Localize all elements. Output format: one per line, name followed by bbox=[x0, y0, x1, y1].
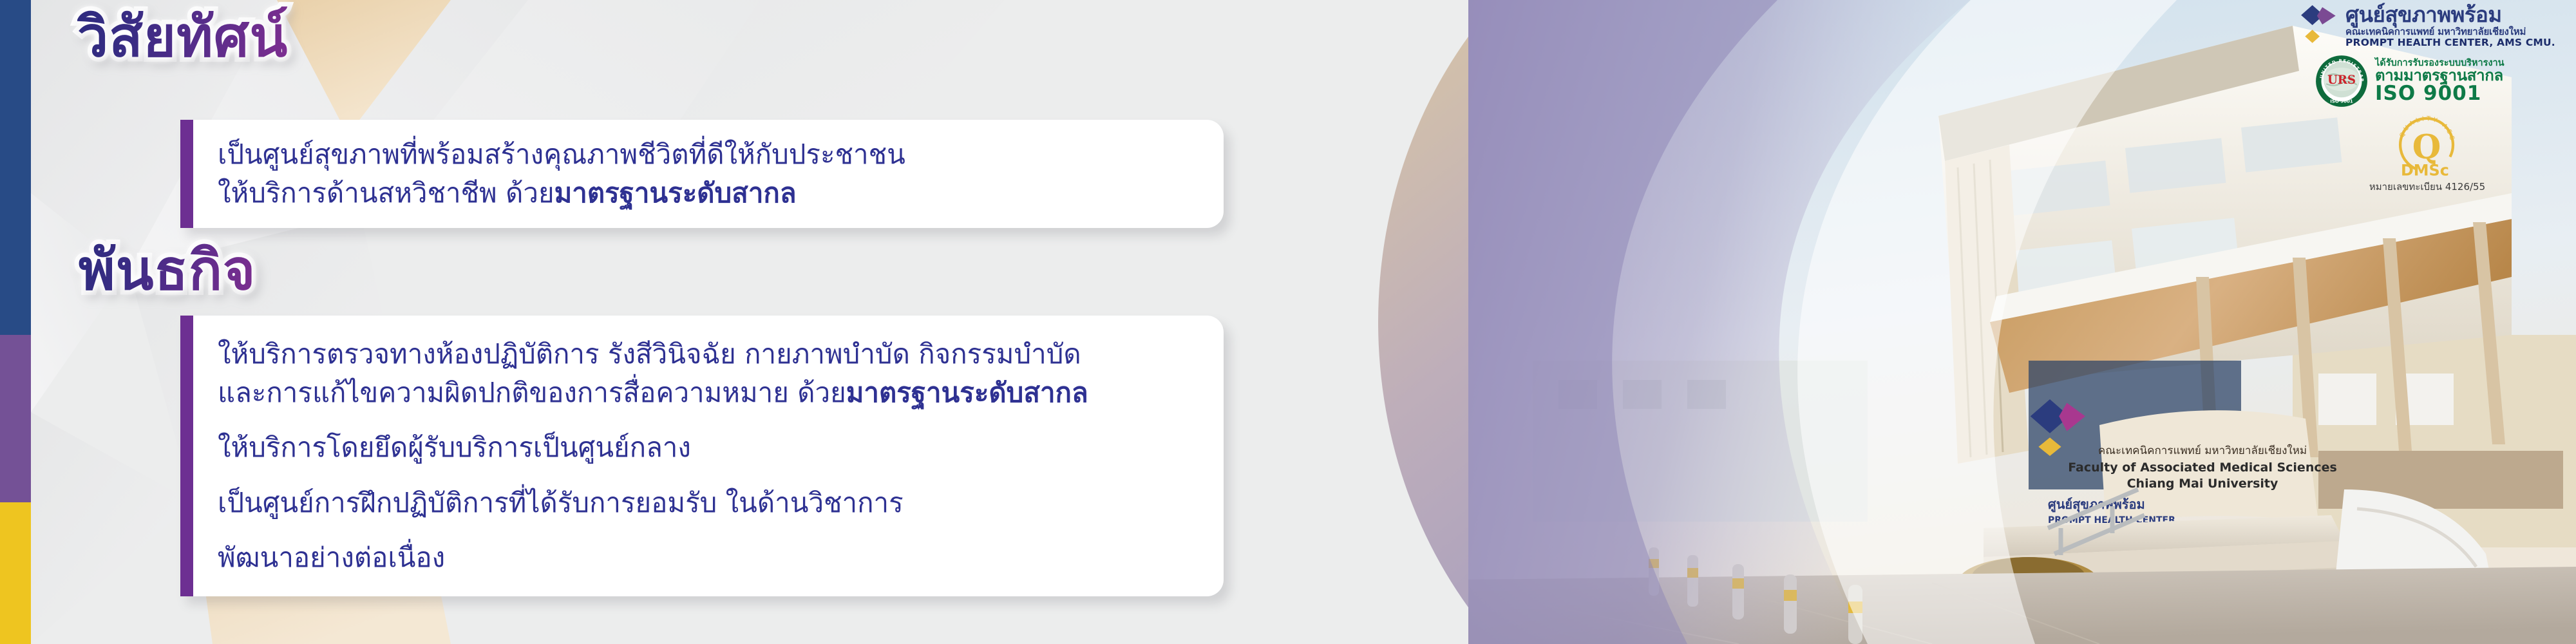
mission-card: ให้บริการตรวจทางห้องปฏิบัติการ รังสีวินิ… bbox=[180, 316, 1224, 596]
mission-item: พัฒนาอย่างต่อเนื่อง bbox=[218, 522, 1198, 577]
vision-line: ให้บริการด้านสหวิชาชีพ ด้วยมาตรฐานระดับส… bbox=[218, 174, 1198, 213]
mission-card-accent-bar bbox=[180, 316, 193, 596]
brand-logo: ศูนย์สุขภาพพร้อม คณะเทคนิคการแพทย์ มหาวิ… bbox=[2300, 4, 2571, 48]
diamond-logo-icon bbox=[2300, 4, 2340, 48]
iso-text-block: ได้รับการรับรองระบบบริหารงาน ตามมาตรฐานส… bbox=[2375, 59, 2505, 104]
mission-item: ให้บริการตรวจทางห้องปฏิบัติการ รังสีวินิ… bbox=[218, 335, 1198, 412]
mission-heading: พันธกิจ bbox=[79, 238, 256, 303]
brand-subtitle-en: PROMPT HEALTH CENTER, AMS CMU. bbox=[2345, 37, 2555, 48]
mission-line-text: ให้บริการโดยยึดผู้รับบริการเป็นศูนย์กลาง bbox=[218, 431, 691, 463]
mission-line: พัฒนาอย่างต่อเนื่อง bbox=[218, 538, 1198, 577]
mission-line: ให้บริการตรวจทางห้องปฏิบัติการ รังสีวินิ… bbox=[218, 335, 1198, 374]
stripe-segment-navy bbox=[0, 0, 31, 335]
mission-card-body: ให้บริการตรวจทางห้องปฏิบัติการ รังสีวินิ… bbox=[193, 316, 1224, 596]
vision-line-text: ให้บริการด้านสหวิชาชีพ ด้วย bbox=[218, 177, 554, 209]
mission-line-text: พัฒนาอย่างต่อเนื่อง bbox=[218, 542, 445, 573]
dmsc-quality-assurance-icon: QUALITY ASSURANCE Q DMSc bbox=[2391, 111, 2463, 178]
iso-line-3: ISO 9001 bbox=[2375, 84, 2505, 104]
vision-card: เป็นศูนย์สุขภาพที่พร้อมสร้างคุณภาพชีวิตท… bbox=[180, 120, 1224, 228]
brand-subtitle-th: คณะเทคนิคการแพทย์ มหาวิทยาลัยเชียงใหม่ bbox=[2345, 27, 2555, 37]
vision-line-text: เป็นศูนย์สุขภาพที่พร้อมสร้างคุณภาพชีวิตท… bbox=[218, 138, 905, 170]
vision-heading: วิสัยทัศน์ bbox=[77, 5, 288, 70]
svg-text:คณะเทคนิคการแพทย์ มหาวิทยาลัยเ: คณะเทคนิคการแพทย์ มหาวิทยาลัยเชียงใหม่ bbox=[2098, 444, 2307, 457]
svg-text:Q: Q bbox=[2412, 128, 2441, 166]
iso-certification: URS UNITED REGISTRAR OF SYSTEMS ISO 9001… bbox=[2300, 54, 2571, 108]
svg-text:Chiang Mai University: Chiang Mai University bbox=[2127, 477, 2278, 491]
stripe-segment-purple bbox=[0, 335, 31, 502]
mission-line: และการแก้ไขความผิดปกติของการสื่อความหมาย… bbox=[218, 374, 1198, 412]
dmsc-certification: QUALITY ASSURANCE Q DMSc bbox=[2300, 111, 2571, 178]
logo-and-certifications: ศูนย์สุขภาพพร้อม คณะเทคนิคการแพทย์ มหาวิ… bbox=[2300, 4, 2571, 194]
mission-line: เป็นศูนย์การฝึกปฏิบัติการที่ได้รับการยอม… bbox=[218, 484, 1198, 522]
stripe-segment-gold bbox=[0, 502, 31, 644]
svg-text:DMSc: DMSc bbox=[2401, 162, 2449, 178]
brand-title-th: ศูนย์สุขภาพพร้อม bbox=[2345, 4, 2555, 26]
svg-text:Faculty of Associated Medical: Faculty of Associated Medical Sciences bbox=[2068, 460, 2337, 475]
left-color-stripe bbox=[0, 0, 31, 644]
mission-item: ให้บริการโดยยึดผู้รับบริการเป็นศูนย์กลาง bbox=[218, 412, 1198, 467]
svg-text:ISO 9001: ISO 9001 bbox=[2330, 99, 2353, 104]
vision-line: เป็นศูนย์สุขภาพที่พร้อมสร้างคุณภาพชีวิตท… bbox=[218, 135, 1198, 174]
mission-line: ให้บริการโดยยึดผู้รับบริการเป็นศูนย์กลาง bbox=[218, 428, 1198, 467]
mission-item: เป็นศูนย์การฝึกปฏิบัติการที่ได้รับการยอม… bbox=[218, 467, 1198, 522]
svg-text:URS: URS bbox=[2327, 73, 2356, 87]
mission-line-bold: มาตรฐานระดับสากล bbox=[846, 377, 1088, 408]
mission-line-text: และการแก้ไขความผิดปกติของการสื่อความหมาย… bbox=[218, 377, 846, 408]
urs-seal-icon: URS UNITED REGISTRAR OF SYSTEMS ISO 9001 bbox=[2315, 54, 2369, 108]
mission-line-text: เป็นศูนย์การฝึกปฏิบัติการที่ได้รับการยอม… bbox=[218, 487, 904, 518]
vision-card-body: เป็นศูนย์สุขภาพที่พร้อมสร้างคุณภาพชีวิตท… bbox=[193, 120, 1224, 228]
registration-number: หมายเลขทะเบียน 4126/55 bbox=[2300, 179, 2571, 194]
vision-line-bold: มาตรฐานระดับสากล bbox=[554, 177, 797, 209]
brand-text: ศูนย์สุขภาพพร้อม คณะเทคนิคการแพทย์ มหาวิ… bbox=[2345, 4, 2555, 48]
vision-card-accent-bar bbox=[180, 120, 193, 228]
mission-line-text: ให้บริการตรวจทางห้องปฏิบัติการ รังสีวินิ… bbox=[218, 338, 1081, 370]
